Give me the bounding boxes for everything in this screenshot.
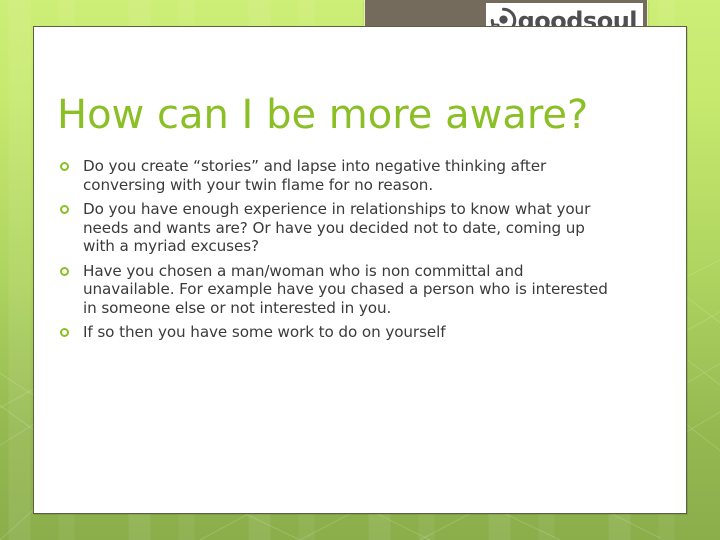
list-item-label: Do you create “stories” and lapse into n… bbox=[83, 157, 615, 194]
list-item-label: Do you have enough experience in relatio… bbox=[83, 200, 615, 256]
list-item-label: Have you chosen a man/woman who is non c… bbox=[83, 262, 615, 318]
list-item: Do you have enough experience in relatio… bbox=[55, 200, 615, 256]
slide-title: How can I be more aware? bbox=[57, 92, 617, 138]
ring-bullet-icon bbox=[60, 205, 69, 214]
slide-canvas: goodsoul How can I be more aware? Do you… bbox=[0, 0, 720, 540]
list-item: Have you chosen a man/woman who is non c… bbox=[55, 262, 615, 318]
ring-bullet-icon bbox=[60, 267, 69, 276]
list-item: Do you create “stories” and lapse into n… bbox=[55, 157, 615, 194]
ring-bullet-icon bbox=[60, 162, 69, 171]
bullet-list: Do you create “stories” and lapse into n… bbox=[55, 157, 615, 348]
list-item: If so then you have some work to do on y… bbox=[55, 323, 615, 342]
list-item-label: If so then you have some work to do on y… bbox=[83, 323, 615, 342]
ring-bullet-icon bbox=[60, 328, 69, 337]
